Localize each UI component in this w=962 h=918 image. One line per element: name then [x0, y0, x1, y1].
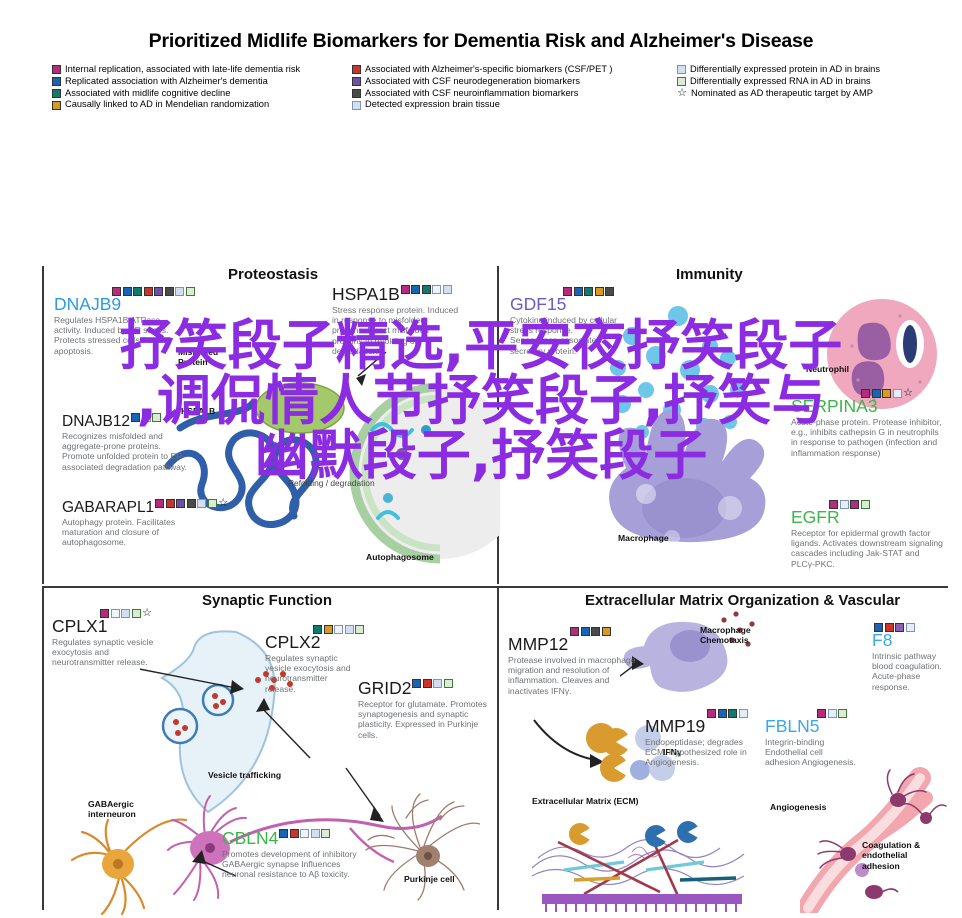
chip-blue: [411, 285, 420, 294]
gene-card-serpina3[interactable]: ☆ SERPINA3 Acute-phase protein. Protease…: [791, 390, 943, 458]
chip-purple: [895, 623, 904, 632]
chip-orange: [882, 389, 891, 398]
chip-blue: [581, 627, 590, 636]
gene-description: Autophagy protein. Facilitates maturatio…: [62, 517, 202, 548]
gene-name: MMP19: [645, 718, 757, 736]
chip-row: [829, 500, 943, 509]
chip-lightblue: [739, 709, 748, 718]
star-icon: ☆: [142, 609, 152, 618]
chip-lightgreen: [208, 499, 217, 508]
panel-heading-immunity: Immunity: [676, 266, 743, 283]
chip-blue: [412, 679, 421, 688]
ecm-illustration: [528, 812, 768, 916]
chip-red: [423, 679, 432, 688]
chip-lightgreen: [838, 709, 847, 718]
chip-teal: [133, 287, 142, 296]
panel-heading-proteostasis: Proteostasis: [228, 266, 318, 283]
legend-item-label: Causally linked to AD in Mendelian rando…: [65, 100, 269, 110]
chip-lightblue: [443, 285, 452, 294]
chip-orange: [602, 627, 611, 636]
legend-item-label: Associated with midlife cognitive declin…: [65, 89, 230, 99]
legend: Internal replication, associated with la…: [0, 53, 962, 110]
chip-lightblue: [840, 500, 849, 509]
page-title: Prioritized Midlife Biomarkers for Demen…: [0, 0, 962, 53]
star-icon: ☆: [218, 499, 228, 508]
panel-heading-ecm: Extracellular Matrix Organization & Vasc…: [585, 592, 900, 609]
legend-item: Differentially expressed RNA in AD in br…: [677, 77, 947, 87]
gene-name: EGFR: [791, 509, 943, 527]
label-neutrophil: Neutrophil: [806, 364, 849, 374]
label-purkinje-cell: Purkinje cell: [404, 874, 455, 884]
gene-card-fbln5[interactable]: FBLN5 Integrin-binding Endothelial cell …: [765, 710, 857, 768]
legend-item-label: Associated with CSF neuroinflammation bi…: [365, 89, 578, 99]
chip-row: [570, 627, 636, 636]
legend-item-label: Detected expression brain tissue: [365, 100, 500, 110]
label-vesicle-trafficking: Vesicle trafficking: [208, 770, 281, 780]
chip-blue: [574, 287, 583, 296]
swatch-teal: [52, 89, 61, 98]
left-axis-bottom: [42, 588, 44, 910]
chip-row: [707, 709, 757, 718]
gene-name: FBLN5: [765, 718, 857, 736]
label-macrophage-chemotaxis: MacrophageChemotaxis: [700, 626, 751, 646]
gene-card-cplx2[interactable]: CPLX2 Regulates synaptic vesicle exocyto…: [265, 626, 357, 694]
chip-lightblue: [906, 623, 915, 632]
legend-item: Associated with midlife cognitive declin…: [52, 89, 352, 99]
legend-item: Differentially expressed protein in AD i…: [677, 65, 947, 75]
chip-lightblue: [433, 679, 442, 688]
chip-row: [412, 679, 453, 688]
chip-lightgreen: [861, 500, 870, 509]
chip-lightgreen: [152, 413, 161, 422]
gene-description: Endopeptidase; degrades ECM. Hypothesize…: [645, 737, 757, 768]
swatch-darkgray: [352, 89, 361, 98]
gene-description: Acute-phase protein. Protease inhibitor,…: [791, 417, 943, 459]
swatch-lightgreen: [677, 77, 686, 86]
star-icon: ☆: [677, 89, 687, 98]
chip-magenta: [850, 500, 859, 509]
swatch-lightblue: [352, 101, 361, 110]
legend-item: Associated with CSF neurodegeneration bi…: [352, 77, 677, 87]
chip-lightgreen: [444, 679, 453, 688]
chip-darkgray: [187, 499, 196, 508]
gene-card-dnajb12[interactable]: DNAJB12 Recognizes misfolded and aggrega…: [62, 414, 190, 472]
gene-description: Receptor for glutamate. Promotes synapto…: [358, 699, 498, 741]
chip-orange: [324, 625, 333, 634]
legend-item-label: Differentially expressed protein in AD i…: [690, 65, 880, 75]
gene-description: Integrin-binding Endothelial cell adhesi…: [765, 737, 857, 768]
gene-description: Receptor for epidermal growth factor lig…: [791, 528, 943, 570]
chip-lightblue: [334, 625, 343, 634]
swatch-blue: [52, 77, 61, 86]
gene-card-egfr[interactable]: EGFR Receptor for epidermal growth facto…: [791, 501, 943, 569]
gene-description: Regulates synaptic vesicle exocytosis an…: [52, 637, 160, 668]
chip-row: [401, 285, 452, 294]
swatch-purple: [352, 77, 361, 86]
chip-row: ☆: [100, 609, 160, 618]
label-coagulation: Coagulation &endothelialadhesion: [862, 840, 920, 871]
angiogenesis-illustration: [800, 758, 960, 913]
chip-magenta: [155, 499, 164, 508]
chip-lightblue: [197, 499, 206, 508]
legend-item: Causally linked to AD in Mendelian rando…: [52, 100, 352, 110]
chip-teal: [584, 287, 593, 296]
chip-blue: [131, 413, 140, 422]
legend-item: Associated with CSF neuroinflammation bi…: [352, 89, 677, 99]
gene-description: Regulates HSPA1B ATPase activity. Induce…: [54, 315, 179, 357]
chip-row: [817, 709, 857, 718]
gene-description: Stress response protein. Induced in resp…: [332, 305, 460, 357]
legend-item: Detected expression brain tissue: [352, 100, 677, 110]
chip-darkgray: [605, 287, 614, 296]
chip-darkgray: [165, 287, 174, 296]
gene-name: DNAJB12: [62, 414, 130, 430]
gene-description: Cytokine induced by cellular stress resp…: [510, 315, 620, 357]
star-icon: ☆: [903, 389, 913, 398]
gene-card-grid2[interactable]: GRID2 Receptor for glutamate. Promotes s…: [358, 680, 498, 740]
legend-item: ☆ Nominated as AD therapeutic target by …: [677, 89, 947, 99]
chip-lightblue: [345, 625, 354, 634]
chip-teal: [422, 285, 431, 294]
gene-name: GDF15: [510, 296, 620, 314]
chip-red: [144, 287, 153, 296]
gene-name: SERPINA3: [791, 398, 943, 416]
chip-lightgreen: [321, 829, 330, 838]
label-refolding-degradation: Refolding / degradation: [288, 478, 375, 488]
chip-row: ☆: [155, 499, 228, 508]
chip-row: [112, 287, 179, 296]
gene-description: Protease involved in macrophage migratio…: [508, 655, 636, 697]
chip-blue: [718, 709, 727, 718]
legend-item-label: Associated with CSF neurodegeneration bi…: [365, 77, 580, 87]
legend-item: Replicated association with Alzheimer's …: [52, 77, 352, 87]
gene-description: Recognizes misfolded and aggregate-prone…: [62, 431, 190, 473]
autophagosome-illustration: [330, 368, 500, 583]
legend-item: Associated with Alzheimer's-specific bio…: [352, 65, 677, 75]
chip-lightgreen: [355, 625, 364, 634]
gene-name: CPLX1: [52, 618, 160, 636]
horizontal-divider: [42, 586, 948, 588]
chip-magenta: [401, 285, 410, 294]
legend-item-label: Internal replication, associated with la…: [65, 65, 300, 75]
chip-purple: [154, 287, 163, 296]
gene-card-mmp19[interactable]: MMP19 Endopeptidase; degrades ECM. Hypot…: [645, 710, 757, 768]
swatch-lightblue: [677, 65, 686, 74]
gene-description: Intrinsic pathway blood coagulation. Acu…: [872, 651, 952, 693]
chip-red: [290, 829, 299, 838]
gene-card-mmp12[interactable]: MMP12 Protease involved in macrophage mi…: [508, 628, 636, 696]
chip-row: [279, 829, 330, 838]
chip-lightgreen: [186, 287, 195, 296]
chip-lightgreen: [132, 609, 141, 618]
chip-magenta: [707, 709, 716, 718]
left-axis-top: [42, 266, 44, 584]
gene-card-dnajb9[interactable]: DNAJB9 Regulates HSPA1B ATPase activity.…: [54, 288, 179, 356]
chip-lightblue: [311, 829, 320, 838]
legend-item-label: Differentially expressed RNA in AD in br…: [690, 77, 871, 87]
macrophage-chemotaxis-illustration: [620, 606, 780, 716]
chip-lightblue: [111, 609, 120, 618]
chip-blue: [123, 287, 132, 296]
chip-row: [131, 413, 161, 422]
swatch-orange: [52, 101, 61, 110]
chip-orange: [595, 287, 604, 296]
legend-item-label: Associated with Alzheimer's-specific bio…: [365, 65, 613, 75]
chip-lightblue: [432, 285, 441, 294]
chip-lightblue: [828, 709, 837, 718]
gene-name: CPLX2: [265, 634, 357, 652]
gene-card-gdf15[interactable]: GDF15 Cytokine induced by cellular stres…: [510, 288, 620, 356]
chip-magenta: [570, 627, 579, 636]
chip-lightblue: [175, 287, 184, 296]
gene-name: GABARAPL1: [62, 500, 154, 516]
gene-card-f8[interactable]: F8 Intrinsic pathway blood coagulation. …: [872, 624, 952, 692]
swatch-red: [352, 65, 361, 74]
vertical-divider-bottom: [497, 588, 499, 910]
legend-item-label: Nominated as AD therapeutic target by AM…: [691, 89, 873, 99]
gene-name: CBLN4: [222, 830, 278, 848]
panel-heading-synaptic: Synaptic Function: [202, 592, 332, 609]
legend-item-label: Replicated association with Alzheimer's …: [65, 77, 268, 87]
chip-teal: [728, 709, 737, 718]
legend-column-3: Differentially expressed protein in AD i…: [677, 65, 947, 110]
gene-name: F8: [872, 632, 952, 650]
legend-item: Internal replication, associated with la…: [52, 65, 352, 75]
label-macrophage: Macrophage: [618, 533, 669, 543]
chip-lightblue: [893, 389, 902, 398]
diagram-canvas: Proteostasis Immunity Synaptic Function …: [0, 118, 962, 778]
gene-description: Promotes development of inhibitory GABAe…: [222, 849, 374, 880]
gene-card-gabarapl1[interactable]: GABARAPL1 ☆ Autophagy protein. Facilitat…: [62, 500, 202, 548]
legend-column-2: Associated with Alzheimer's-specific bio…: [352, 65, 677, 110]
label-angiogenesis: Angiogenesis: [770, 802, 826, 812]
chip-darkgray: [591, 627, 600, 636]
gene-card-cbln4[interactable]: CBLN4 Promotes development of inhibitory…: [222, 830, 374, 880]
chip-blue: [279, 829, 288, 838]
label-autophagosome: Autophagosome: [366, 552, 434, 562]
gene-name: DNAJB9: [54, 296, 179, 314]
gene-name: MMP12: [508, 636, 636, 654]
label-ecm: Extracellular Matrix (ECM): [532, 796, 639, 806]
chip-lightblue: [121, 609, 130, 618]
gene-description: Regulates synaptic vesicle exocytosis an…: [265, 653, 357, 695]
gene-name: GRID2: [358, 680, 411, 698]
chip-lightblue: [300, 829, 309, 838]
chip-row: [563, 287, 620, 296]
label-misfolded-protein: MisfoldedProtein: [178, 348, 218, 368]
chip-red: [166, 499, 175, 508]
gene-name: HSPA1B: [332, 286, 400, 304]
swatch-magenta: [52, 65, 61, 74]
chip-lightblue: [142, 413, 151, 422]
gene-card-cplx1[interactable]: ☆ CPLX1 Regulates synaptic vesicle exocy…: [52, 610, 160, 668]
legend-column-1: Internal replication, associated with la…: [52, 65, 352, 110]
gene-card-hspa1b[interactable]: HSPA1B Stress response protein. Induced …: [332, 286, 460, 357]
vertical-divider-top: [497, 266, 499, 584]
chip-purple: [176, 499, 185, 508]
